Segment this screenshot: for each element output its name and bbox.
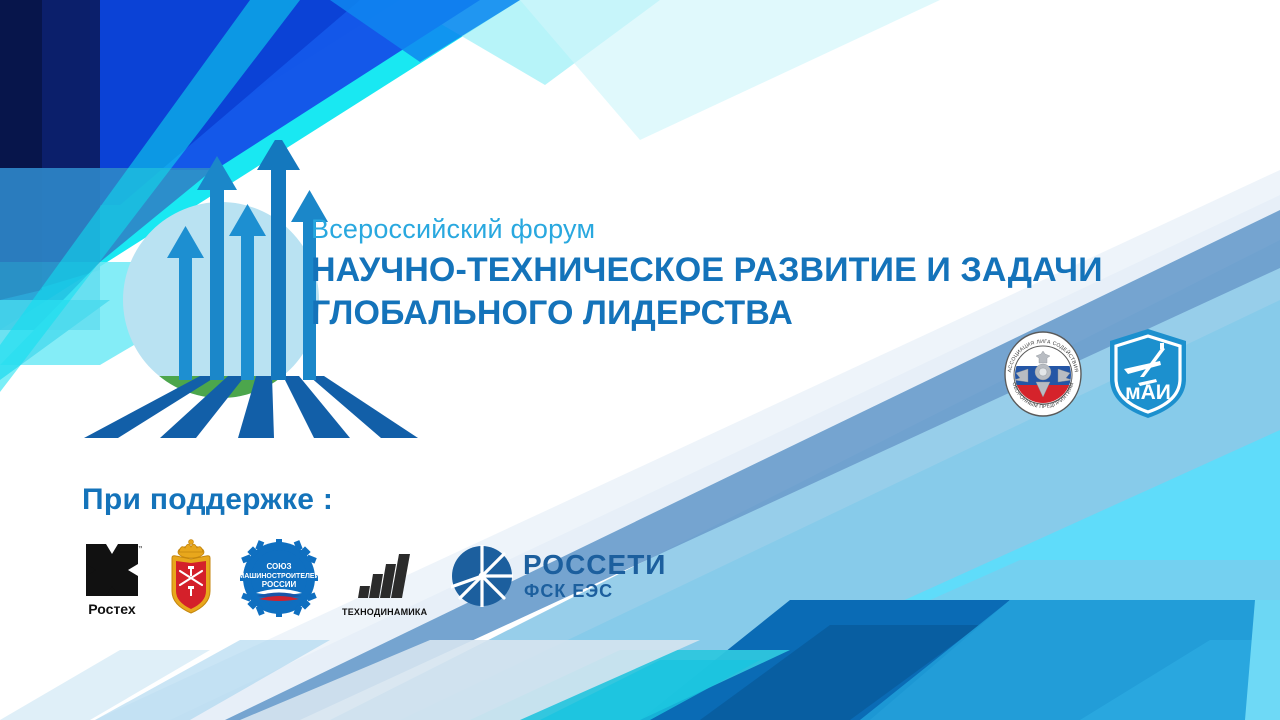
tula-oblast-coat-of-arms-icon	[166, 539, 216, 617]
sponsor-tekhnodinamika: ТЕХНОДИНАМИКА	[342, 535, 427, 617]
logo-arrows	[167, 140, 328, 380]
svg-text:™: ™	[138, 545, 142, 552]
soyuz-mashinostroiteley-rossii-logo-icon: СОЮЗ МАШИНОСТРОИТЕЛЕЙ РОССИИ	[240, 539, 318, 617]
sponsor-rosseti-fsk-ees: РОССЕТИ ФСК ЕЭС	[451, 535, 673, 617]
league-of-defence-enterprises-seal: АССОЦИАЦИЯ ЛИГА СОДЕЙСТВИЯ ОБОРОННЫМ ПРЕ…	[998, 325, 1088, 421]
mai-shield-emblem: мАИ	[1104, 325, 1192, 421]
forum-kicker: Всероссийский форум	[311, 216, 1211, 243]
sponsor-caption: Ростех	[88, 601, 135, 617]
mai-wordmark: мАИ	[1125, 381, 1171, 404]
pale-cyan-shard-2	[520, 0, 940, 140]
svg-text:МАШИНОСТРОИТЕЛЕЙ: МАШИНОСТРОИТЕЛЕЙ	[240, 571, 318, 580]
sponsor-row: ™ Ростех	[82, 535, 673, 617]
crown-icon	[178, 540, 204, 558]
sponsor-soyuz-mashinostroiteley: СОЮЗ МАШИНОСТРОИТЕЛЕЙ РОССИИ	[240, 535, 318, 617]
svg-text:РОССИИ: РОССИИ	[262, 580, 297, 589]
rosseti-wordmark: РОССЕТИ ФСК ЕЭС	[523, 547, 673, 605]
title-block: Всероссийский форум НАУЧНО-ТЕХНИЧЕСКОЕ Р…	[311, 216, 1211, 335]
slide-canvas: Всероссийский форум НАУЧНО-ТЕХНИЧЕСКОЕ Р…	[0, 0, 1280, 720]
rosseti-subwordmark-text: ФСК ЕЭС	[524, 581, 613, 601]
rosseti-radial-logo-icon	[451, 545, 513, 607]
tekhnodinamika-logo-icon	[354, 548, 416, 604]
rostec-logo-icon: ™	[82, 540, 142, 598]
sponsor-rostec: ™ Ростех	[82, 535, 142, 617]
page-title-line-1: НАУЧНО-ТЕХНИЧЕСКОЕ РАЗВИТИЕ И ЗАДАЧИ	[311, 249, 1211, 292]
sponsor-caption: ТЕХНОДИНАМИКА	[342, 607, 427, 617]
svg-text:СОЮЗ: СОЮЗ	[266, 562, 291, 571]
support-label: При поддержке :	[82, 483, 673, 517]
partner-emblems: АССОЦИАЦИЯ ЛИГА СОДЕЙСТВИЯ ОБОРОННЫМ ПРЕ…	[998, 322, 1194, 424]
mai-shield-outline	[1110, 329, 1186, 418]
rosseti-wordmark-text: РОССЕТИ	[523, 549, 666, 580]
support-block: При поддержке : ™ Ростех	[82, 483, 673, 617]
sponsor-tula-oblast	[166, 535, 216, 617]
